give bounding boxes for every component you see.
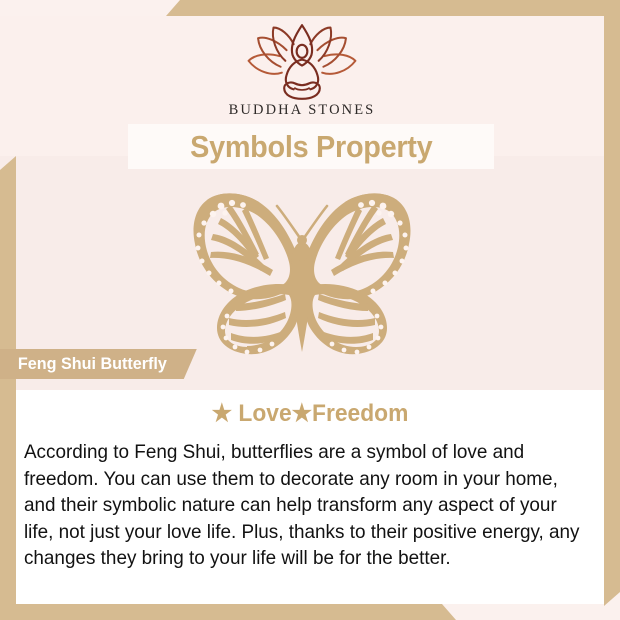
content-section: ★ Love★Freedom According to Feng Shui, b… bbox=[16, 390, 604, 604]
frame-top-bar bbox=[0, 0, 620, 16]
frame-bottom-bar bbox=[0, 604, 620, 620]
status-badge: Feng Shui Butterfly bbox=[0, 349, 197, 379]
butterfly-icon bbox=[173, 190, 431, 360]
tag-label: Feng Shui Butterfly bbox=[18, 354, 167, 374]
brand-name: BUDDHA STONES bbox=[229, 102, 376, 119]
infographic-card: BUDDHA STONES Symbols Property bbox=[0, 0, 620, 620]
frame-right-bar bbox=[604, 0, 620, 620]
lotus-meditation-icon bbox=[242, 24, 362, 100]
content-paragraph: According to Feng Shui, butterflies are … bbox=[22, 439, 584, 572]
content-subheading: ★ Love★Freedom bbox=[36, 399, 583, 428]
title-banner: Symbols Property bbox=[128, 124, 494, 169]
page-title: Symbols Property bbox=[190, 129, 432, 165]
